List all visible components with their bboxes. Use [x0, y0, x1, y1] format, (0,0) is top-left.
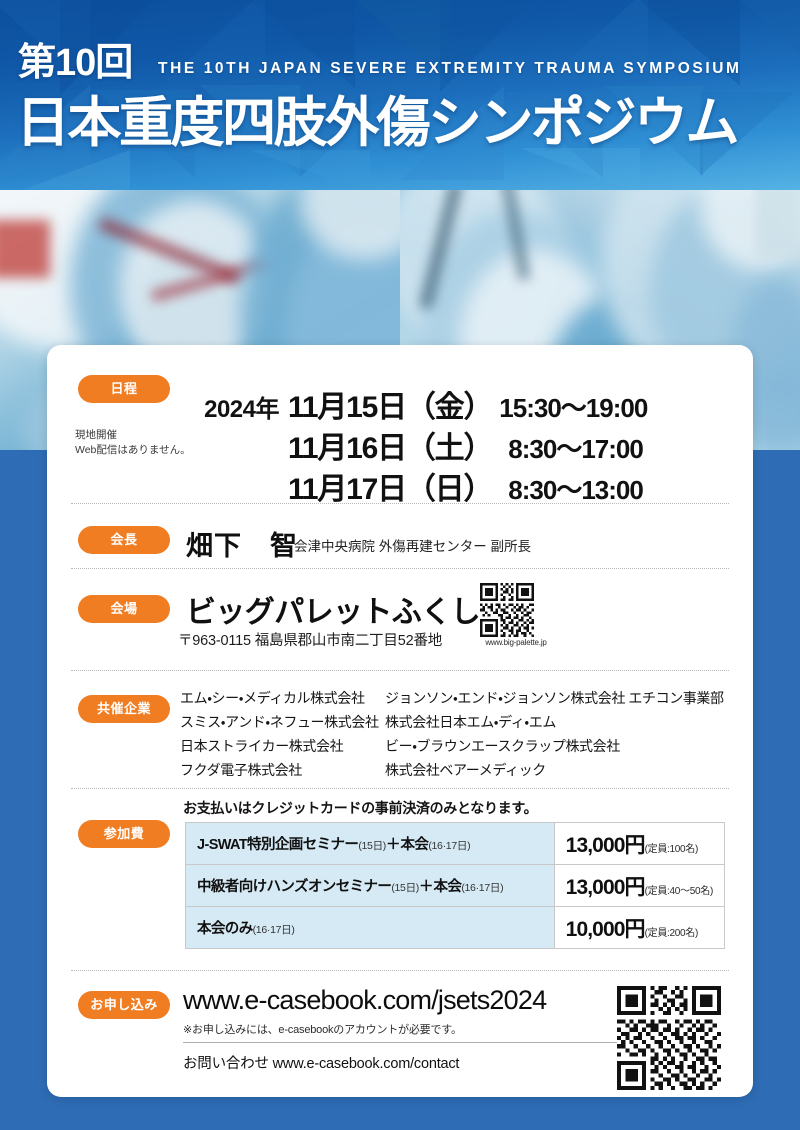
schedule-note: 現地開催 Web配信はありません。 — [75, 428, 191, 458]
fee-price-cell: 10,000円(定員:200名) — [554, 907, 724, 949]
fee-label-days2: (16·17日) — [461, 882, 503, 894]
fee-capacity: (定員:200名) — [645, 928, 698, 939]
schedule-time: 8:30〜13:00 — [508, 470, 643, 507]
schedule-date: 11月15日（金） — [288, 382, 492, 426]
fee-price: 13,000円 — [566, 876, 645, 899]
divider — [71, 788, 729, 789]
apply-contact[interactable]: お問い合わせ www.e-casebook.com/contact — [183, 1052, 459, 1073]
sponsor-name: 株式会社日本エム・ディ・エム — [385, 711, 724, 733]
qr-code-icon[interactable] — [480, 583, 552, 637]
schedule-rows: 2024年 11月15日（金） 15:30〜19:00 11月16日（土） 8:… — [186, 382, 647, 505]
schedule-date: 11月16日（土） — [288, 423, 492, 467]
venue-qr-caption: www.big-palette.jp — [480, 638, 552, 647]
apply-note: ※お申し込みには、e-casebookのアカウントが必要です。 — [183, 1021, 462, 1037]
table-row: 本会のみ(16·17日) 10,000円(定員:200名) — [186, 907, 725, 949]
fee-label-cell: J-SWAT特別企画セミナー(15日)＋本会(16·17日) — [186, 823, 555, 865]
sponsor-name: ジョンソン・エンド・ジョンソン株式会社 エチコン事業部 — [385, 687, 724, 709]
schedule-time: 15:30〜19:00 — [499, 388, 647, 425]
chair-name: 畑下 智 — [186, 524, 298, 563]
badge-sponsors: 共催企業 — [78, 695, 170, 723]
sponsor-name: フクダ電子株式会社 — [180, 759, 385, 781]
sponsor-list: エム・シー・メディカル株式会社 ジョンソン・エンド・ジョンソン株式会社 エチコン… — [180, 687, 724, 781]
sponsor-name: エム・シー・メディカル株式会社 — [180, 687, 385, 709]
schedule-row: 2024年 11月15日（金） 15:30〜19:00 — [186, 382, 647, 423]
apply-contact-url[interactable]: www.e-casebook.com/contact — [273, 1056, 460, 1072]
header-edition: 第10回 — [18, 44, 132, 82]
venue-name: ビッグパレットふくしま — [186, 587, 509, 631]
fee-label-main: 本会のみ — [197, 921, 253, 937]
venue-qr-block[interactable]: www.big-palette.jp — [480, 583, 552, 647]
schedule-year: 2024年 — [186, 389, 279, 424]
fee-label-main2: 本会 — [401, 837, 429, 853]
schedule-time: 8:30〜17:00 — [508, 429, 643, 466]
fee-label-cell: 中級者向けハンズオンセミナー(15日)＋本会(16·17日) — [186, 865, 555, 907]
sponsor-name: 株式会社ベアーメディック — [385, 759, 724, 781]
header-title-japanese: 日本重度四肢外傷シンポジウム — [16, 96, 737, 150]
fee-label-main: 中級者向けハンズオンセミナー — [197, 879, 391, 895]
fee-price-cell: 13,000円(定員:100名) — [554, 823, 724, 865]
info-card: 日程 現地開催 Web配信はありません。 2024年 11月15日（金） 15:… — [47, 345, 753, 1097]
qr-code-icon[interactable] — [617, 986, 721, 1090]
schedule-row: 11月16日（土） 8:30〜17:00 — [186, 423, 647, 464]
badge-chair: 会長 — [78, 526, 170, 554]
fee-plus-sign: ＋ — [419, 879, 434, 895]
apply-url-link[interactable]: www.e-casebook.com/jsets2024 — [183, 985, 546, 1016]
table-row: 中級者向けハンズオンセミナー(15日)＋本会(16·17日) 13,000円(定… — [186, 865, 725, 907]
fee-label-days2: (16·17日) — [428, 840, 470, 852]
sponsor-name: ビー・ブラウンエースクラップ株式会社 — [385, 735, 724, 757]
schedule-row: 11月17日（日） 8:30〜13:00 — [186, 464, 647, 505]
chair-affiliation: 会津中央病院 外傷再建センター 副所長 — [294, 535, 531, 555]
divider — [71, 568, 729, 569]
badge-fee: 参加費 — [78, 820, 170, 848]
venue-address: 〒963-0115 福島県郡山市南二丁目52番地 — [178, 629, 442, 650]
fee-label-main2: 本会 — [434, 879, 462, 895]
badge-schedule: 日程 — [78, 375, 170, 403]
divider — [71, 670, 729, 671]
fee-capacity: (定員:40〜50名) — [645, 886, 713, 897]
divider — [71, 970, 729, 971]
fee-table: J-SWAT特別企画セミナー(15日)＋本会(16·17日) 13,000円(定… — [185, 822, 725, 949]
apply-rule — [183, 1042, 623, 1043]
fee-label-days: (16·17日) — [253, 924, 295, 936]
fee-label-days: (15日) — [391, 882, 419, 894]
header-subtitle-english: THE 10TH JAPAN SEVERE EXTREMITY TRAUMA S… — [158, 60, 742, 78]
divider — [71, 503, 729, 504]
badge-venue: 会場 — [78, 595, 170, 623]
apply-contact-label: お問い合わせ — [183, 1056, 269, 1072]
fee-price: 13,000円 — [566, 834, 645, 857]
poster-root: 第10回 THE 10TH JAPAN SEVERE EXTREMITY TRA… — [0, 0, 800, 1130]
sponsor-name: スミス・アンド・ネフュー株式会社 — [180, 711, 385, 733]
fee-capacity: (定員:100名) — [645, 844, 698, 855]
fee-price-cell: 13,000円(定員:40〜50名) — [554, 865, 724, 907]
fee-payment-note: お支払いはクレジットカードの事前決済のみとなります。 — [183, 798, 537, 818]
badge-apply: お申し込み — [78, 991, 170, 1019]
table-row: J-SWAT特別企画セミナー(15日)＋本会(16·17日) 13,000円(定… — [186, 823, 725, 865]
schedule-note-line2: Web配信はありません。 — [75, 444, 191, 456]
fee-label-cell: 本会のみ(16·17日) — [186, 907, 555, 949]
fee-label-main: J-SWAT特別企画セミナー — [197, 837, 358, 853]
schedule-note-line1: 現地開催 — [75, 429, 117, 441]
fee-price: 10,000円 — [566, 918, 645, 941]
fee-label-days: (15日) — [358, 840, 386, 852]
schedule-date: 11月17日（日） — [288, 464, 492, 508]
fee-plus-sign: ＋ — [386, 837, 401, 853]
poster-header: 第10回 THE 10TH JAPAN SEVERE EXTREMITY TRA… — [0, 0, 800, 190]
sponsor-name: 日本ストライカー株式会社 — [180, 735, 385, 757]
